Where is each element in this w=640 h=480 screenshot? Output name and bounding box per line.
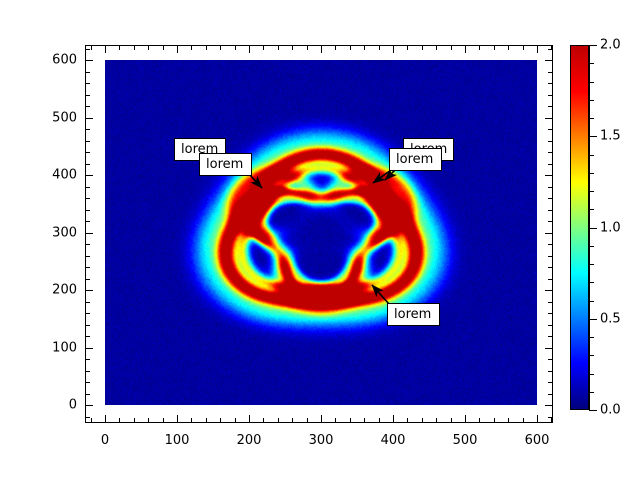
y-minor-tick-right — [548, 141, 553, 142]
colorbar-minor-tick — [589, 264, 594, 265]
colorbar-minor-tick — [589, 118, 594, 119]
x-minor-tick — [494, 418, 495, 423]
y-tick-label: 600 — [52, 53, 77, 68]
y-minor-tick-right — [548, 210, 553, 211]
colorbar-minor-tick — [589, 191, 594, 192]
x-minor-tick — [163, 418, 164, 423]
x-major-tick-top — [249, 45, 250, 53]
x-tick-label: 0 — [101, 433, 109, 448]
x-major-tick-top — [465, 45, 466, 53]
x-minor-tick-top — [134, 45, 135, 50]
y-minor-tick-right — [548, 221, 553, 222]
y-major-tick — [85, 405, 93, 406]
colorbar-major-tick — [589, 319, 597, 320]
y-minor-tick — [85, 371, 90, 372]
y-minor-tick-right — [548, 129, 553, 130]
y-minor-tick — [85, 83, 90, 84]
x-minor-tick — [292, 418, 293, 423]
y-major-tick-right — [545, 290, 553, 291]
x-minor-tick — [479, 418, 480, 423]
x-major-tick — [465, 415, 466, 423]
x-minor-tick-top — [148, 45, 149, 50]
annotation-label-4[interactable]: lorem — [389, 148, 442, 171]
x-tick-label: 600 — [525, 433, 550, 448]
x-minor-tick-top — [91, 45, 92, 50]
x-major-tick — [537, 415, 538, 423]
x-major-tick-top — [321, 45, 322, 53]
y-tick-label: 0 — [69, 398, 77, 413]
colorbar — [570, 45, 589, 410]
y-major-tick — [85, 118, 93, 119]
y-tick-label: 200 — [52, 283, 77, 298]
x-minor-tick — [148, 418, 149, 423]
y-minor-tick — [85, 313, 90, 314]
y-minor-tick — [85, 141, 90, 142]
colorbar-minor-tick — [589, 301, 594, 302]
colorbar-minor-tick — [589, 100, 594, 101]
y-tick-label: 400 — [52, 168, 77, 183]
y-minor-tick-right — [548, 325, 553, 326]
x-minor-tick-top — [235, 45, 236, 50]
x-major-tick-top — [537, 45, 538, 53]
y-minor-tick — [85, 256, 90, 257]
y-minor-tick — [85, 417, 90, 418]
y-major-tick-right — [545, 118, 553, 119]
x-major-tick-top — [177, 45, 178, 53]
colorbar-minor-tick — [589, 374, 594, 375]
x-minor-tick-top — [364, 45, 365, 50]
colorbar-minor-tick — [589, 155, 594, 156]
y-minor-tick-right — [548, 106, 553, 107]
y-minor-tick — [85, 198, 90, 199]
y-tick-label: 100 — [52, 340, 77, 355]
x-minor-tick — [235, 418, 236, 423]
x-minor-tick — [335, 418, 336, 423]
y-major-tick-right — [545, 60, 553, 61]
colorbar-minor-tick — [589, 246, 594, 247]
x-major-tick — [393, 415, 394, 423]
x-minor-tick-top — [350, 45, 351, 50]
x-minor-tick — [451, 418, 452, 423]
y-minor-tick-right — [548, 83, 553, 84]
x-minor-tick-top — [379, 45, 380, 50]
x-minor-tick — [379, 418, 380, 423]
x-minor-tick-top — [191, 45, 192, 50]
colorbar-major-tick — [589, 45, 597, 46]
y-minor-tick — [85, 152, 90, 153]
x-tick-label: 300 — [309, 433, 334, 448]
y-major-tick — [85, 60, 93, 61]
y-major-tick-right — [545, 405, 553, 406]
x-major-tick — [177, 415, 178, 423]
y-minor-tick — [85, 244, 90, 245]
annotation-label-2[interactable]: lorem — [199, 153, 252, 176]
x-minor-tick-top — [278, 45, 279, 50]
x-minor-tick-top — [206, 45, 207, 50]
y-minor-tick-right — [548, 267, 553, 268]
x-tick-label: 400 — [381, 433, 406, 448]
x-minor-tick-top — [436, 45, 437, 50]
x-minor-tick-top — [119, 45, 120, 50]
x-minor-tick — [119, 418, 120, 423]
figure-canvas: 0100200300400500600 0100200300400500600 … — [0, 0, 640, 480]
y-tick-label: 500 — [52, 110, 77, 125]
x-minor-tick-top — [220, 45, 221, 50]
x-tick-label: 200 — [237, 433, 262, 448]
colorbar-tick-label: 1.0 — [600, 220, 621, 235]
x-minor-tick — [134, 418, 135, 423]
y-minor-tick-right — [548, 382, 553, 383]
colorbar-minor-tick — [589, 392, 594, 393]
y-major-tick-right — [545, 233, 553, 234]
y-minor-tick — [85, 187, 90, 188]
x-major-tick — [105, 415, 106, 423]
colorbar-minor-tick — [589, 173, 594, 174]
x-minor-tick — [508, 418, 509, 423]
x-minor-tick — [422, 418, 423, 423]
x-minor-tick-top — [163, 45, 164, 50]
x-minor-tick-top — [407, 45, 408, 50]
x-minor-tick-top — [494, 45, 495, 50]
colorbar-tick-label: 0.5 — [600, 311, 621, 326]
y-minor-tick-right — [548, 244, 553, 245]
x-major-tick-top — [105, 45, 106, 53]
x-minor-tick — [206, 418, 207, 423]
x-minor-tick — [407, 418, 408, 423]
x-minor-tick-top — [292, 45, 293, 50]
y-major-tick — [85, 348, 93, 349]
x-minor-tick-top — [335, 45, 336, 50]
y-minor-tick — [85, 210, 90, 211]
x-major-tick-top — [393, 45, 394, 53]
colorbar-major-tick — [589, 228, 597, 229]
y-minor-tick-right — [548, 49, 553, 50]
colorbar-minor-tick — [589, 337, 594, 338]
colorbar-minor-tick — [589, 63, 594, 64]
colorbar-minor-tick — [589, 355, 594, 356]
x-minor-tick — [263, 418, 264, 423]
x-minor-tick — [278, 418, 279, 423]
y-minor-tick-right — [548, 417, 553, 418]
y-minor-tick — [85, 267, 90, 268]
x-major-tick — [249, 415, 250, 423]
colorbar-major-tick — [589, 410, 597, 411]
colorbar-minor-tick — [589, 82, 594, 83]
colorbar-minor-tick — [589, 282, 594, 283]
y-major-tick — [85, 290, 93, 291]
y-minor-tick — [85, 279, 90, 280]
y-minor-tick — [85, 394, 90, 395]
y-major-tick — [85, 233, 93, 234]
heatmap-image — [105, 60, 537, 405]
x-minor-tick — [364, 418, 365, 423]
x-tick-label: 500 — [453, 433, 478, 448]
y-minor-tick-right — [548, 313, 553, 314]
y-tick-label: 300 — [52, 225, 77, 240]
y-major-tick-right — [545, 175, 553, 176]
y-minor-tick — [85, 129, 90, 130]
y-minor-tick — [85, 95, 90, 96]
y-major-tick-right — [545, 348, 553, 349]
x-minor-tick-top — [479, 45, 480, 50]
colorbar-gradient — [570, 45, 589, 410]
colorbar-tick-label: 1.5 — [600, 129, 621, 144]
y-minor-tick — [85, 106, 90, 107]
x-major-tick — [321, 415, 322, 423]
x-minor-tick-top — [523, 45, 524, 50]
y-minor-tick — [85, 359, 90, 360]
y-minor-tick — [85, 336, 90, 337]
y-minor-tick-right — [548, 371, 553, 372]
x-minor-tick-top — [422, 45, 423, 50]
y-minor-tick-right — [548, 72, 553, 73]
y-minor-tick-right — [548, 198, 553, 199]
y-minor-tick — [85, 164, 90, 165]
y-minor-tick — [85, 72, 90, 73]
x-minor-tick — [551, 418, 552, 423]
y-minor-tick — [85, 49, 90, 50]
x-minor-tick — [220, 418, 221, 423]
x-minor-tick — [436, 418, 437, 423]
y-minor-tick-right — [548, 256, 553, 257]
x-tick-label: 100 — [165, 433, 190, 448]
x-minor-tick-top — [263, 45, 264, 50]
colorbar-tick-label: 2.0 — [600, 38, 621, 53]
y-minor-tick — [85, 302, 90, 303]
colorbar-major-tick — [589, 136, 597, 137]
x-minor-tick — [191, 418, 192, 423]
y-minor-tick-right — [548, 394, 553, 395]
y-minor-tick — [85, 221, 90, 222]
x-minor-tick-top — [451, 45, 452, 50]
x-minor-tick — [350, 418, 351, 423]
y-minor-tick — [85, 382, 90, 383]
colorbar-minor-tick — [589, 209, 594, 210]
annotation-label-5[interactable]: lorem — [387, 303, 440, 326]
y-minor-tick-right — [548, 336, 553, 337]
colorbar-tick-label: 0.0 — [600, 403, 621, 418]
y-minor-tick-right — [548, 359, 553, 360]
heatmap-canvas — [105, 60, 537, 405]
y-major-tick — [85, 175, 93, 176]
y-minor-tick-right — [548, 302, 553, 303]
x-minor-tick — [91, 418, 92, 423]
x-minor-tick — [307, 418, 308, 423]
y-minor-tick-right — [548, 95, 553, 96]
x-minor-tick-top — [508, 45, 509, 50]
y-minor-tick — [85, 325, 90, 326]
y-minor-tick-right — [548, 279, 553, 280]
x-minor-tick-top — [307, 45, 308, 50]
y-minor-tick-right — [548, 164, 553, 165]
y-minor-tick-right — [548, 152, 553, 153]
y-minor-tick-right — [548, 187, 553, 188]
x-minor-tick — [523, 418, 524, 423]
